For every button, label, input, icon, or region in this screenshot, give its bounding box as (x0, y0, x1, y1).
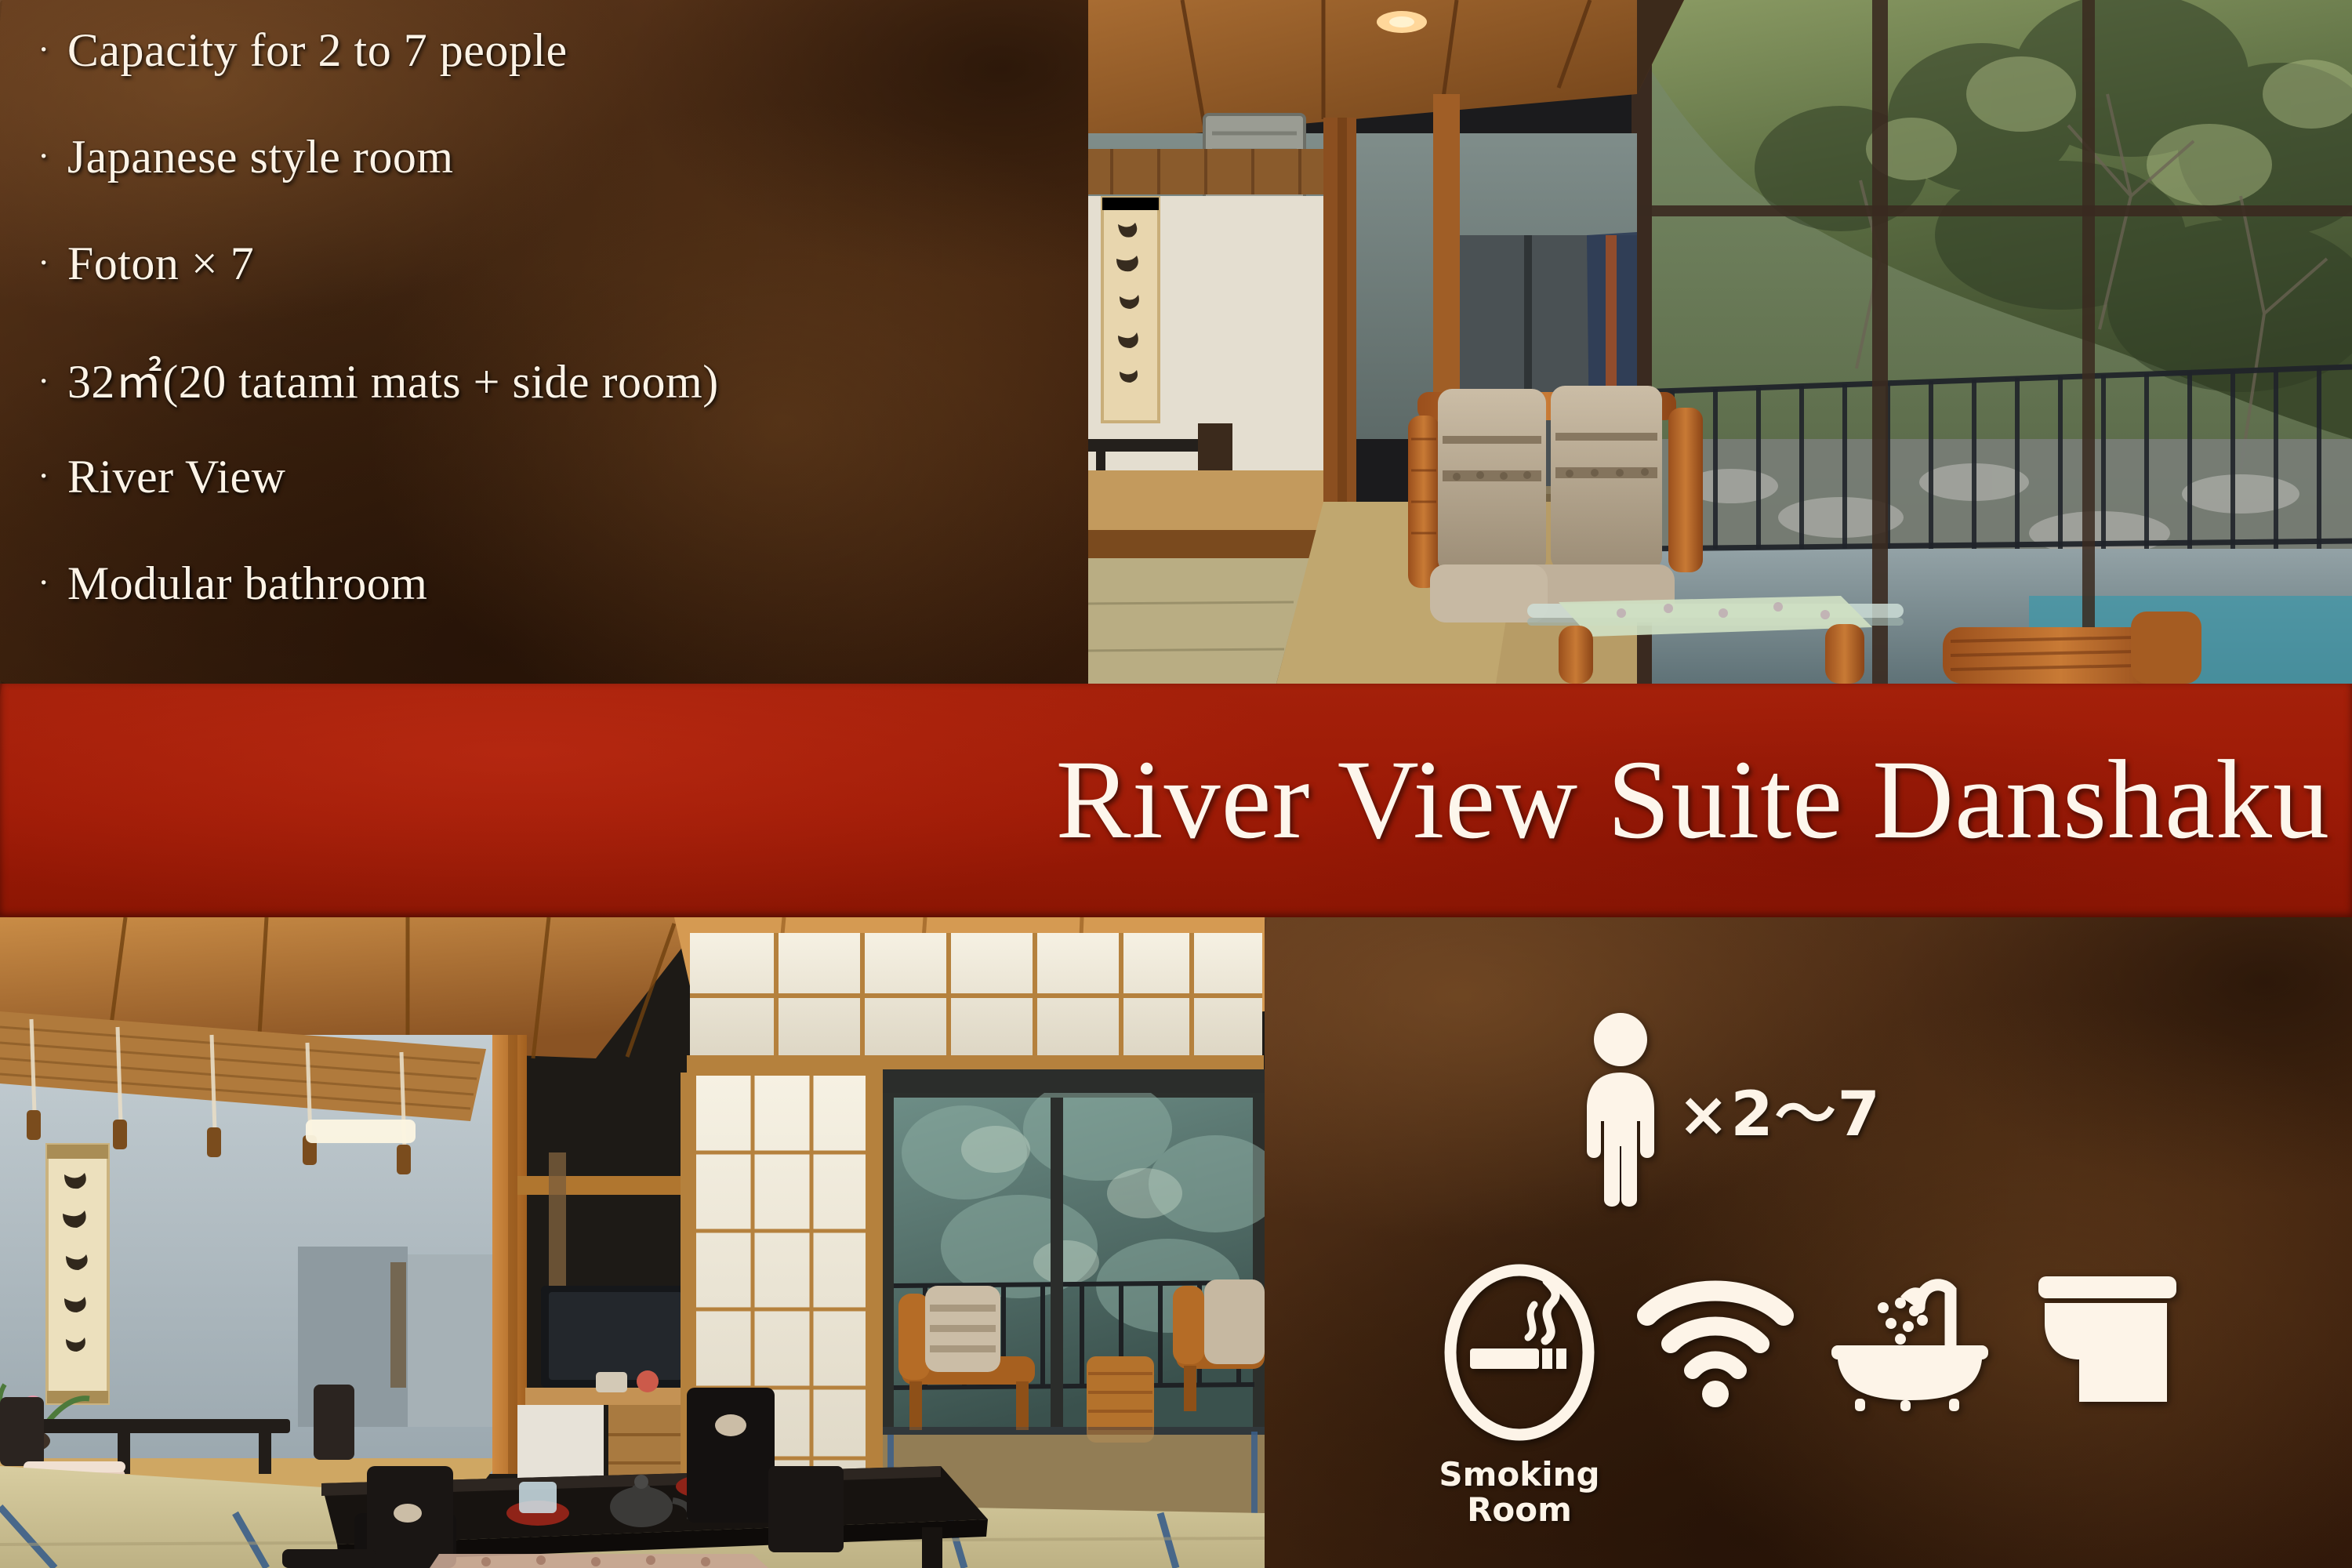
feature-item-capacity: · Capacity for 2 to 7 people (38, 24, 1088, 130)
feature-item-river-view: · River View (38, 450, 1088, 557)
amenity-wifi (1617, 1262, 1813, 1411)
photo-engawa-river-view (1088, 0, 2352, 684)
feature-label: River View (67, 450, 286, 504)
room-promo-poster: · Capacity for 2 to 7 people · Japanese … (0, 0, 2352, 1568)
smoking-caption-line-1: Smoking (1439, 1455, 1599, 1494)
bullet-icon: · (38, 31, 50, 67)
amenity-smoking-room: Smoking Room (1421, 1262, 1617, 1528)
feature-item-area: · 32㎡(20 tatami mats + side room) (38, 343, 1088, 450)
bullet-icon: · (38, 564, 50, 601)
feature-label: Modular bathroom (67, 557, 428, 611)
engawa-photo-illustration (1088, 0, 2352, 684)
amenity-icon-row: Smoking Room (1421, 1262, 2252, 1528)
person-icon (1574, 1011, 1667, 1207)
smoking-caption-line-2: Room (1467, 1490, 1572, 1529)
feature-item-futon: · Foton × 7 (38, 237, 1088, 343)
capacity-row: ×2～7 (1574, 1011, 1882, 1207)
title-banner: River View Suite Danshaku (0, 684, 2352, 917)
amenity-bathtub-shower (1813, 1262, 2009, 1411)
bullet-icon: · (38, 138, 50, 174)
photo-tatami-guest-room (0, 917, 1265, 1568)
amenities-panel: ×2～7 Smoking Room (1265, 917, 2352, 1568)
page-title: River View Suite Danshaku (1056, 744, 2352, 857)
bullet-icon: · (38, 363, 50, 399)
feature-label: Foton × 7 (67, 237, 254, 291)
features-panel: · Capacity for 2 to 7 people · Japanese … (0, 0, 1088, 684)
feature-label: Japanese style room (67, 130, 454, 184)
toilet-icon (2029, 1262, 2186, 1411)
bullet-icon: · (38, 245, 50, 281)
smoking-room-icon (1437, 1262, 1602, 1443)
feature-label: 32㎡(20 tatami mats + side room) (67, 343, 719, 412)
capacity-count-label: ×2～7 (1678, 1065, 1882, 1153)
amenity-toilet (2009, 1262, 2205, 1411)
bathtub-shower-icon (1825, 1262, 1998, 1411)
bullet-icon: · (38, 458, 50, 494)
tatami-room-photo-illustration (0, 917, 1265, 1568)
feature-item-room-style: · Japanese style room (38, 130, 1088, 237)
smoking-room-caption: Smoking Room (1439, 1457, 1599, 1528)
wifi-icon (1633, 1262, 1798, 1411)
feature-item-bathroom: · Modular bathroom (38, 557, 1088, 663)
features-list: · Capacity for 2 to 7 people · Japanese … (38, 24, 1088, 663)
feature-label: Capacity for 2 to 7 people (67, 24, 568, 78)
